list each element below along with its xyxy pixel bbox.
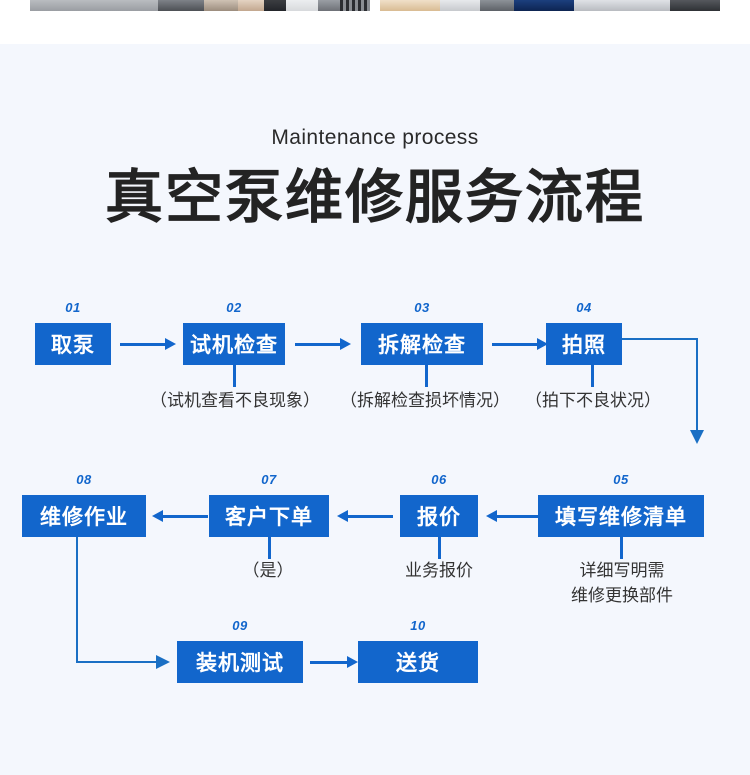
- step-node-08[interactable]: 维修作业: [22, 495, 146, 537]
- step-node-07[interactable]: 客户下单: [209, 495, 329, 537]
- arrow-head-right-icon: [165, 338, 176, 350]
- step-node-04[interactable]: 拍照: [546, 323, 622, 365]
- photo-strip-segment: [204, 0, 238, 11]
- arrow-shaft: [492, 343, 538, 346]
- elbow-horizontal-segment: [76, 661, 162, 663]
- step-number-02: 02: [183, 300, 285, 315]
- arrow-shaft: [347, 515, 393, 518]
- photo-strip-segment: [340, 0, 370, 11]
- elbow-horizontal-segment: [622, 338, 698, 340]
- photo-strip-segment: [514, 0, 574, 11]
- arrow-head-left-icon: [337, 510, 348, 522]
- step-caption-02: （试机查看不良现象）: [135, 389, 335, 414]
- elbow-vertical-segment: [696, 338, 698, 430]
- arrow-shaft: [496, 515, 542, 518]
- photo-strip-segment: [670, 0, 720, 11]
- photo-strip-segment: [574, 0, 670, 11]
- caption-tick-05: [620, 537, 623, 559]
- photo-strip-segment: [480, 0, 514, 11]
- caption-tick-02: [233, 365, 236, 387]
- photo-strip-right: [380, 0, 720, 11]
- arrow-head-right-icon: [347, 656, 358, 668]
- photo-strip-segment: [380, 0, 440, 11]
- arrow-head-left-icon: [486, 510, 497, 522]
- arrow-shaft: [295, 343, 341, 346]
- step-node-01[interactable]: 取泵: [35, 323, 111, 365]
- photo-strip-segment: [286, 0, 318, 11]
- elbow-vertical-segment: [76, 537, 78, 663]
- step-number-04: 04: [546, 300, 622, 315]
- step-number-10: 10: [358, 618, 478, 633]
- maintenance-process-infographic: Maintenance process 真空泵维修服务流程 01 取泵 02 试…: [0, 0, 750, 775]
- page-title: 真空泵维修服务流程: [0, 166, 750, 229]
- arrow-01-to-02: [120, 338, 176, 350]
- step-caption-05-line-2: 维修更换部件: [556, 584, 688, 609]
- caption-tick-06: [438, 537, 441, 559]
- arrow-07-to-08: [152, 510, 208, 522]
- photo-strip-segment: [440, 0, 480, 11]
- arrow-shaft: [120, 343, 166, 346]
- elbow-08-to-09: [76, 537, 186, 669]
- step-node-03[interactable]: 拆解检查: [361, 323, 483, 365]
- step-number-01: 01: [35, 300, 111, 315]
- step-number-07: 07: [209, 472, 329, 487]
- step-number-03: 03: [361, 300, 483, 315]
- arrow-head-right-icon: [340, 338, 351, 350]
- arrow-06-to-07: [337, 510, 393, 522]
- step-caption-05: 详细写明需 维修更换部件: [556, 559, 688, 608]
- step-caption-05-line-1: 详细写明需: [556, 559, 688, 584]
- arrow-head-right-icon: [156, 655, 170, 669]
- arrow-05-to-06: [486, 510, 542, 522]
- photo-strip-segment: [30, 0, 158, 11]
- arrow-shaft: [162, 515, 208, 518]
- arrow-shaft: [310, 661, 348, 664]
- photo-strip-segment: [238, 0, 264, 11]
- step-node-05[interactable]: 填写维修清单: [538, 495, 704, 537]
- arrow-03-to-04: [492, 338, 548, 350]
- photo-strip-segment: [158, 0, 204, 11]
- step-node-02[interactable]: 试机检查: [183, 323, 285, 365]
- arrow-head-left-icon: [152, 510, 163, 522]
- caption-tick-03: [425, 365, 428, 387]
- arrow-09-to-10: [310, 656, 358, 668]
- step-number-09: 09: [177, 618, 303, 633]
- step-number-06: 06: [400, 472, 478, 487]
- photo-strip-band: [0, 0, 750, 44]
- photo-strip-segment: [318, 0, 340, 11]
- elbow-04-to-05: [622, 338, 732, 450]
- arrow-02-to-03: [295, 338, 351, 350]
- step-number-08: 08: [22, 472, 146, 487]
- arrow-head-down-icon: [690, 430, 704, 444]
- step-number-05: 05: [538, 472, 704, 487]
- caption-tick-07: [268, 537, 271, 559]
- step-caption-03: （拆解检查损坏情况）: [325, 389, 525, 414]
- photo-strip-segment: [264, 0, 286, 11]
- caption-tick-04: [591, 365, 594, 387]
- step-node-09[interactable]: 装机测试: [177, 641, 303, 683]
- step-node-10[interactable]: 送货: [358, 641, 478, 683]
- photo-strip-left: [30, 0, 370, 11]
- step-node-06[interactable]: 报价: [400, 495, 478, 537]
- step-caption-07: （是）: [218, 559, 318, 584]
- subtitle: Maintenance process: [0, 126, 750, 150]
- step-caption-06: 业务报价: [389, 559, 489, 584]
